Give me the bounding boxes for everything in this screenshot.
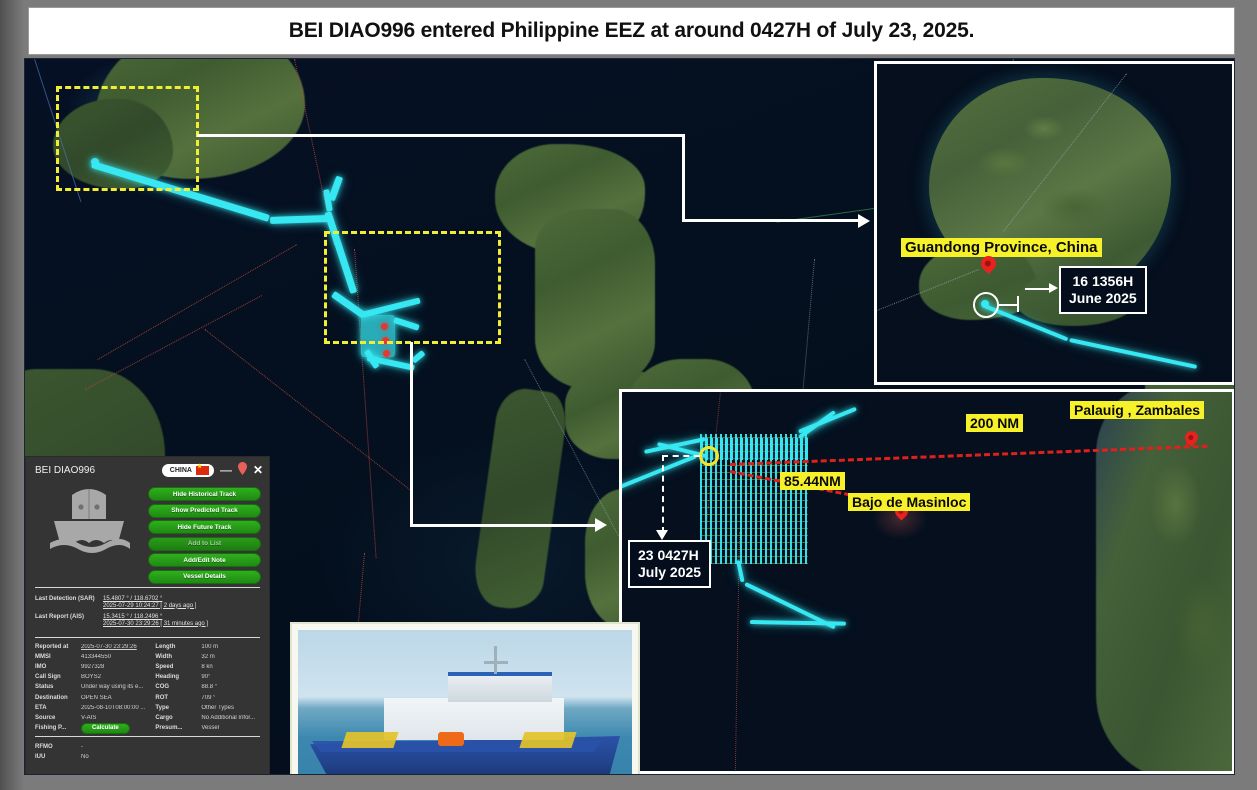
field-value: No Additional Infor... [201,715,255,721]
field-value: OPEN SEA [81,695,112,701]
masinloc-track-in-1 [619,454,697,491]
pin-icon-svg [238,462,247,475]
ship-crane-aft [519,732,576,748]
minimize-icon[interactable]: — [220,464,232,476]
field-value: Other Types [201,705,234,711]
vessel-details-right-column: Length100 m Width32 m Speed8 kn Heading9… [155,642,260,734]
vessel-silhouette-icon [34,485,144,563]
last-detection-values: 15.4807 ° / 118.6702 ° 2025-07-29 10:24:… [103,596,196,610]
field-key: IUU [35,754,81,760]
table-row: Fishing P... Calculate [35,723,145,733]
field-value: 2025-07-30 23:29:26 [81,644,137,650]
table-row: ETA2025-08-10T08:00:00 ... [35,703,145,713]
connector-guangdong-v [682,134,685,222]
vessel-photo: CHINA RESEARCH/SURVEY BEI DIAO996 [298,630,632,775]
field-key: Speed [155,664,201,670]
last-detection-row: Last Detection (SAR) 15.4807 ° / 118.670… [35,596,260,610]
field-key: Heading [155,674,201,680]
field-key: MMSI [35,654,81,660]
roi-box-guangdong[interactable] [56,86,199,191]
field-value: 8 kn [201,664,212,670]
field-key: Length [155,644,201,650]
pin-icon[interactable] [238,462,247,478]
left-shadow [0,0,24,790]
last-report-row: Last Report (AIS) 15.3415 ° / 118.2496 °… [35,614,260,628]
last-detection-coords[interactable]: 15.4807 ° / 118.6702 ° [103,596,196,602]
last-detection-time[interactable]: 2025-07-29 10:24:27 [ 2 days ago ] [103,603,196,609]
page-title: BEI DIAO996 entered Philippine EEZ at ar… [289,19,974,43]
add-to-list-button[interactable]: Add to List [148,537,261,551]
vessel-panel-title: BEI DIAO996 [35,465,95,476]
field-value: 90° [201,674,210,680]
connector-guangdong-h1 [197,134,685,137]
field-key: Call Sign [35,674,81,680]
vessel-details-left-column: Reported at2025-07-30 23:29:26 MMSI41334… [35,642,145,734]
field-value: 100 m [201,644,218,650]
masinloc-track-out-2 [798,410,836,439]
hide-future-track-button[interactable]: Hide Future Track [148,520,261,534]
ship-mast-yard [484,661,508,664]
table-row: COG88.8 ° [155,682,260,692]
last-report-label: Last Report (AIS) [35,614,103,628]
table-row: TypeOther Types [155,703,260,713]
vessel-panel-header: BEI DIAO996 CHINA — ✕ [26,457,269,483]
field-value: No [81,754,89,760]
guangdong-leader-line [997,304,1019,306]
vessel-icon-svg [34,485,144,563]
vessel-details-table: Reported at2025-07-30 23:29:26 MMSI41334… [26,641,269,734]
table-row: Reported at2025-07-30 23:29:26 [35,642,145,652]
title-bar: BEI DIAO996 entered Philippine EEZ at ar… [28,7,1235,55]
guangdong-callout-box: 16 1356H June 2025 [1059,266,1147,314]
ship-bridge [448,672,552,702]
vessel-details-button[interactable]: Vessel Details [148,570,261,584]
field-key: RFMO [35,744,81,750]
ship-crane-fore [341,732,398,748]
connector-masinloc-v [410,342,413,527]
divider-mid [35,637,260,638]
boundary-line-w1 [85,295,262,390]
last-detection-label: Last Detection (SAR) [35,596,103,610]
masinloc-callout-line2: July 2025 [638,564,701,581]
field-key: IMO [35,664,81,670]
table-row: IUUNo [35,752,260,762]
table-row: Width32 m [155,652,260,662]
track-detection-dot-3 [383,350,390,357]
calculate-button[interactable]: Calculate [81,723,130,734]
connector-guangdong-arrow [858,214,870,228]
field-value: - [81,744,83,750]
vessel-info-panel[interactable]: BEI DIAO996 CHINA — ✕ [25,456,270,775]
connector-guangdong-h2 [682,219,860,222]
field-value: 709 ° [201,695,215,701]
track-segment-10 [411,350,426,364]
ship-mast [494,646,497,674]
field-value: 88.8 ° [201,684,217,690]
masinloc-track-south-3 [750,620,846,626]
masinloc-callout-box: 23 0427H July 2025 [628,540,711,588]
connector-masinloc-arrow [595,518,607,532]
field-key: Destination [35,695,81,701]
inset-panel-masinloc[interactable]: 23 0427H July 2025 200 NM 85.44NM Bajo d… [619,389,1235,774]
guangdong-callout-line2: June 2025 [1069,290,1137,307]
vessel-photo-card: CHINA RESEARCH/SURVEY BEI DIAO996 [290,622,640,775]
guangdong-leader-tick [1017,296,1019,312]
vessel-footer-section: RFMO- IUUNo [26,740,269,764]
table-row: RFMO- [35,742,260,752]
last-report-values: 15.3415 ° / 118.2496 ° 2025-07-30 23:29:… [103,614,208,628]
field-key: Type [155,705,201,711]
incursion-leader-v [662,455,664,533]
ship-lifeboat [438,732,464,746]
field-value: Under way using its e... [81,684,143,690]
field-key: Presum... [155,725,201,731]
detection-section: Last Detection (SAR) 15.4807 ° / 118.670… [26,591,269,634]
field-value: 32 m [201,654,214,660]
flag-chip-label: CHINA [170,467,192,474]
table-row: Speed8 kn [155,662,260,672]
field-key: Fishing P... [35,725,81,731]
label-bajo-de-masinloc: Bajo de Masinloc [848,493,970,511]
field-key: Source [35,715,81,721]
incursion-point-circle [699,446,719,466]
field-key: Status [35,684,81,690]
field-key: COG [155,684,201,690]
connector-masinloc-h [410,524,598,527]
hide-historical-track-button[interactable]: Hide Historical Track [148,487,261,501]
table-row: Length100 m [155,642,260,652]
screenshot-root: BEI DIAO996 entered Philippine EEZ at ar… [0,0,1257,790]
vessel-action-buttons: Hide Historical Track Show Predicted Tra… [148,485,261,584]
incursion-leader-arrowhead [656,530,668,540]
last-report-time[interactable]: 2025-07-30 23:29:26 [ 31 minutes ago ] [103,621,208,627]
guangdong-callout-line1: 16 1356H [1069,273,1137,290]
inset-track-seg-2 [1069,338,1197,369]
roi-box-masinloc[interactable] [324,231,501,344]
main-map[interactable]: Guandong Province, China 16 1356H June 2… [24,58,1235,775]
table-row: Call SignBOYS2 [35,672,145,682]
table-row: Heading90° [155,672,260,682]
masinloc-callout-line1: 23 0427H [638,547,701,564]
field-value: 413344550 [81,654,111,660]
field-key: Cargo [155,715,201,721]
vessel-panel-body: Hide Historical Track Show Predicted Tra… [26,483,269,584]
add-edit-note-button[interactable]: Add/Edit Note [148,553,261,567]
table-row: CargoNo Additional Infor... [155,713,260,723]
guangdong-callout-arrowhead [1049,283,1058,293]
guangdong-callout-arrow-line [1025,288,1051,290]
table-row: IMO9927328 [35,662,145,672]
show-predicted-track-button[interactable]: Show Predicted Track [148,504,261,518]
flag-chip[interactable]: CHINA [162,464,214,477]
table-row: StatusUnder way using its e... [35,682,145,692]
label-85nm: 85.44NM [780,472,845,490]
landmass-luzon [535,209,655,389]
table-row: SourceV-AIS [35,713,145,723]
table-row: ROT709 ° [155,692,260,702]
label-200nm: 200 NM [966,414,1023,432]
field-key: ROT [155,695,201,701]
table-row: MMSI413344550 [35,652,145,662]
table-row: DestinationOPEN SEA [35,692,145,702]
field-value: 9927328 [81,664,104,670]
field-value: 2025-08-10T08:00:00 ... [81,705,145,711]
table-row: Presum...Vessel [155,723,260,733]
guangdong-place-label: Guandong Province, China [901,238,1102,257]
last-report-coords[interactable]: 15.3415 ° / 118.2496 ° [103,614,208,620]
label-palauig-zambales: Palauig , Zambales [1070,401,1204,419]
divider-top [35,587,260,588]
field-key: ETA [35,705,81,711]
field-value: Vessel [201,725,219,731]
divider-bottom [35,736,260,737]
incursion-leader-h [662,455,700,457]
boundary-line-n2 [97,244,297,360]
china-flag-icon [196,466,209,475]
field-value: BOYS2 [81,674,101,680]
close-icon[interactable]: ✕ [253,464,263,476]
field-key: Reported at [35,644,81,650]
guangdong-position-circle [973,292,999,318]
field-key: Width [155,654,201,660]
inset-panel-guangdong[interactable]: Guandong Province, China 16 1356H June 2… [874,61,1235,385]
field-value: V-AIS [81,715,96,721]
track-segment-2 [270,215,330,224]
